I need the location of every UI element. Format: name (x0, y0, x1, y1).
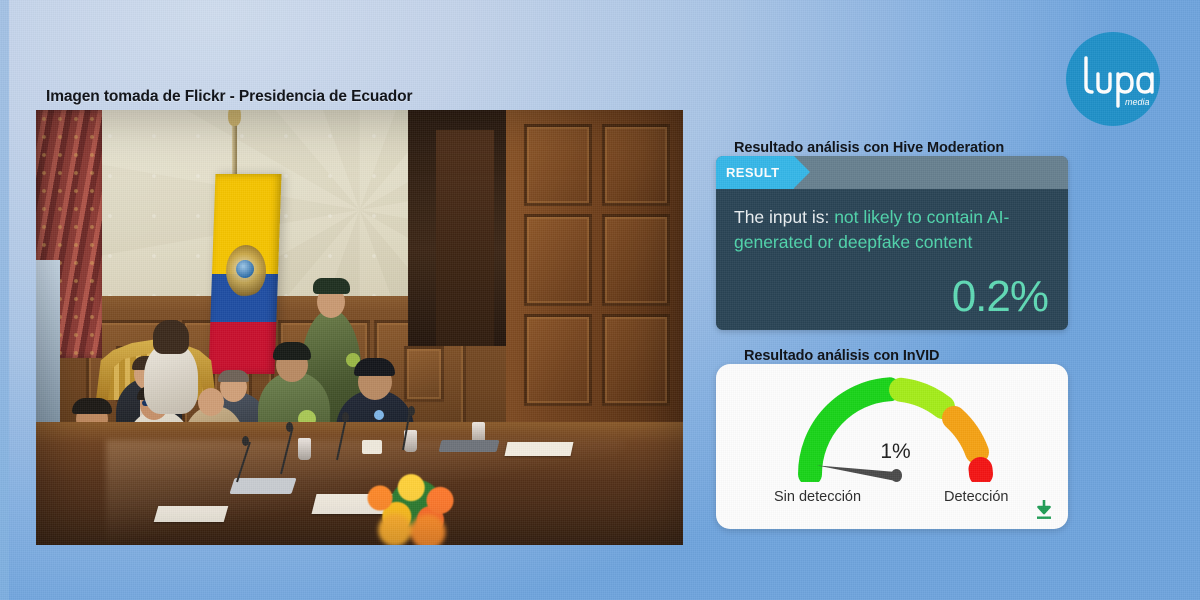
result-badge-label: RESULT (726, 165, 779, 180)
gauge-value-label: 1% (788, 440, 1003, 464)
gauge-needle-hub (891, 469, 902, 482)
result-badge-arrow (794, 156, 810, 188)
photo-vignette (36, 110, 683, 545)
logo-subtext: media (1125, 97, 1150, 107)
hive-result-card: RESULT The input is: not likely to conta… (716, 156, 1068, 330)
hive-section-title: Resultado análisis con Hive Moderation (734, 140, 1004, 156)
download-icon[interactable] (1034, 499, 1054, 521)
news-photograph (36, 110, 683, 545)
gauge-label-left: Sin detección (774, 489, 861, 505)
hive-card-body: The input is: not likely to contain AI-g… (716, 189, 1068, 330)
gauge-segment-red (981, 469, 982, 474)
invid-section-title: Resultado análisis con InVID (744, 348, 939, 364)
hive-verdict-line: The input is: not likely to contain AI-g… (734, 205, 1050, 255)
lupa-media-logo: media (1062, 28, 1164, 130)
invid-gauge: 1% (788, 374, 1003, 482)
gauge-label-right: Detección (944, 489, 1008, 505)
left-edge-band (0, 0, 9, 600)
hive-percentage: 0.2% (952, 272, 1048, 322)
hive-prefix-text: The input is: (734, 207, 829, 227)
result-badge: RESULT (716, 156, 794, 189)
photo-caption: Imagen tomada de Flickr - Presidencia de… (46, 88, 412, 106)
gauge-segment-yellow-green (901, 390, 943, 407)
screenshot-canvas: media Imagen tomada de Flickr - Presiden… (0, 0, 1200, 600)
invid-result-card: 1% Sin detección Detección (716, 364, 1068, 529)
